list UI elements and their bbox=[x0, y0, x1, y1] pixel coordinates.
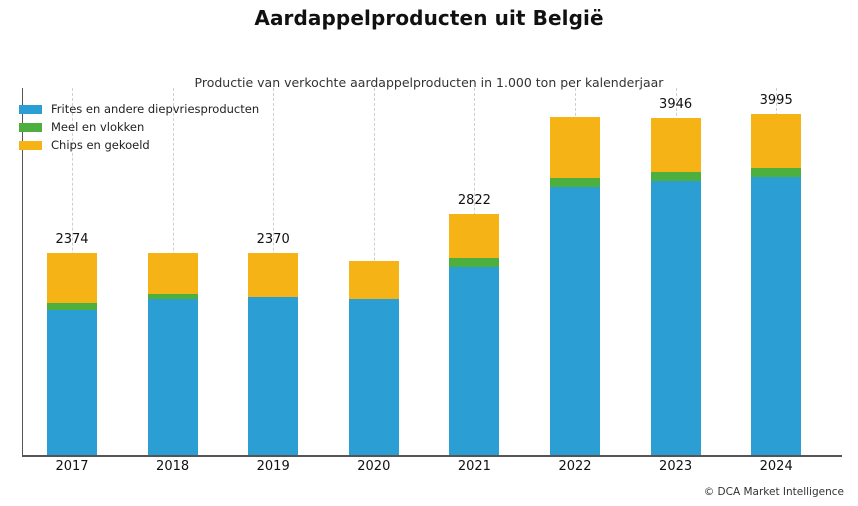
chart-legend: Frites en andere diepvriesproducten Meel… bbox=[19, 101, 259, 155]
bar-segment-frites bbox=[651, 181, 701, 455]
bar-value-label: 3995 bbox=[760, 93, 793, 108]
bar-segment-frites bbox=[550, 187, 600, 455]
bar-value-label: 2374 bbox=[55, 232, 88, 247]
bar-segment-frites bbox=[248, 297, 298, 455]
bar-segment-chips bbox=[651, 118, 701, 171]
x-tick-label-2017: 2017 bbox=[55, 459, 88, 474]
bar-value-label: 2370 bbox=[257, 232, 290, 247]
bar-segment-chips bbox=[449, 214, 499, 258]
bar-segment-chips bbox=[47, 253, 97, 303]
bar-segment-meel bbox=[751, 168, 801, 177]
bar-segment-chips bbox=[349, 261, 399, 299]
x-tick-label-2020: 2020 bbox=[357, 459, 390, 474]
bar-segment-meel bbox=[47, 303, 97, 310]
bar-value-label: 2822 bbox=[458, 193, 491, 208]
x-tick-label-2023: 2023 bbox=[659, 459, 692, 474]
x-tick-label-2018: 2018 bbox=[156, 459, 189, 474]
chart-container: Aardappelproducten uit België Productie … bbox=[0, 0, 858, 506]
bar-segment-meel bbox=[651, 172, 701, 181]
bar-segment-meel bbox=[449, 258, 499, 267]
legend-label: Meel en vlokken bbox=[51, 120, 144, 134]
bar-segment-frites bbox=[47, 310, 97, 455]
bar-2018[interactable] bbox=[148, 253, 198, 455]
bar-2024[interactable]: 3995 bbox=[751, 114, 801, 455]
bar-segment-chips bbox=[248, 253, 298, 297]
legend-label: Chips en gekoeld bbox=[51, 138, 150, 152]
bar-segment-chips bbox=[550, 117, 600, 178]
bar-2023[interactable]: 3946 bbox=[651, 118, 701, 455]
plot-area: 2374201720182370201920202822202120223946… bbox=[0, 0, 858, 506]
x-axis-line bbox=[22, 455, 842, 457]
bar-segment-frites bbox=[751, 177, 801, 455]
legend-item-chips[interactable]: Chips en gekoeld bbox=[19, 137, 259, 153]
x-tick-label-2022: 2022 bbox=[558, 459, 591, 474]
bar-segment-frites bbox=[148, 299, 198, 455]
bar-segment-chips bbox=[148, 253, 198, 294]
bar-segment-chips bbox=[751, 114, 801, 167]
bar-segment-frites bbox=[449, 267, 499, 456]
legend-item-meel[interactable]: Meel en vlokken bbox=[19, 119, 259, 135]
x-tick-label-2024: 2024 bbox=[760, 459, 793, 474]
legend-label: Frites en andere diepvriesproducten bbox=[51, 102, 259, 116]
legend-swatch-icon bbox=[19, 123, 42, 132]
legend-swatch-icon bbox=[19, 105, 42, 114]
credit-text: © DCA Market Intelligence bbox=[704, 486, 844, 498]
x-tick-label-2019: 2019 bbox=[257, 459, 290, 474]
legend-swatch-icon bbox=[19, 141, 42, 150]
bar-segment-frites bbox=[349, 299, 399, 455]
x-tick-label-2021: 2021 bbox=[458, 459, 491, 474]
bar-2022[interactable] bbox=[550, 117, 600, 455]
bar-value-label: 3946 bbox=[659, 97, 692, 112]
bar-segment-meel bbox=[550, 178, 600, 187]
bar-2019[interactable]: 2370 bbox=[248, 253, 298, 455]
bar-2017[interactable]: 2374 bbox=[47, 253, 97, 455]
bar-2021[interactable]: 2822 bbox=[449, 214, 499, 455]
bar-2020[interactable] bbox=[349, 261, 399, 455]
legend-item-frites[interactable]: Frites en andere diepvriesproducten bbox=[19, 101, 259, 117]
